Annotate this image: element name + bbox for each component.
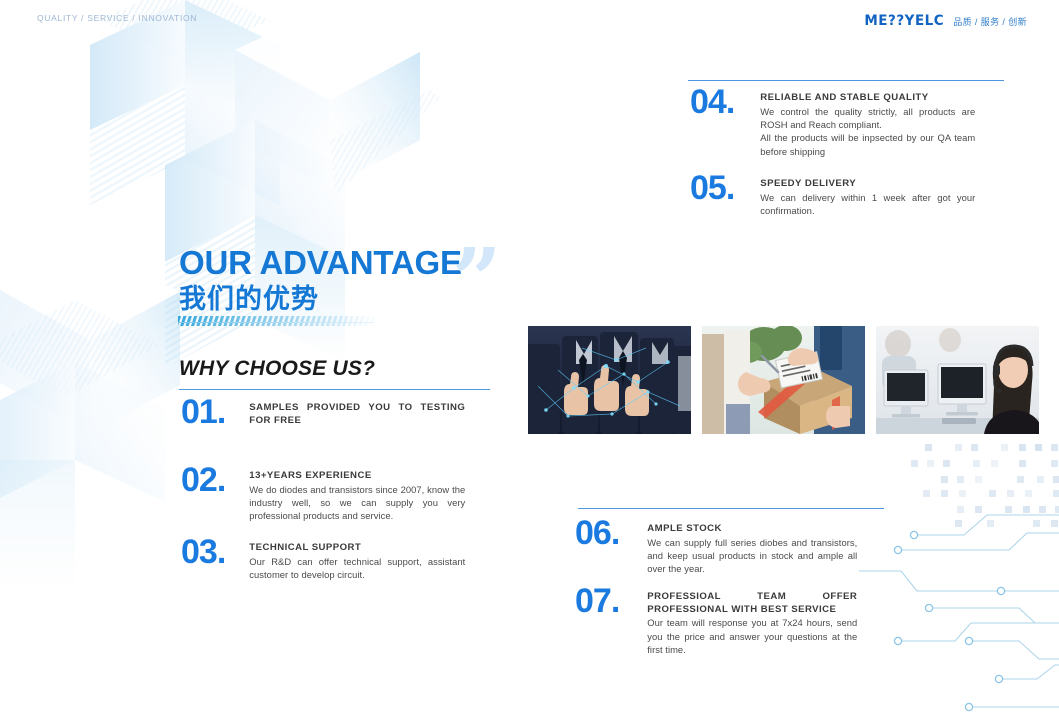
logo-subtitle: 品质 / 服务 / 创新 xyxy=(953,15,1027,28)
pixel-dot-grid-icon xyxy=(879,440,1059,550)
advantage-item-04: 04. RELIABLE AND STABLE QUALITY We contr… xyxy=(690,88,1010,158)
item-title: TECHNICAL SUPPORT xyxy=(249,542,465,555)
why-choose-us-heading: WHY CHOOSE US? xyxy=(179,357,375,381)
advantage-item-07: 07. PROFESSIOAL TEAM OFFER PROFESSIONAL … xyxy=(575,587,895,656)
item-number: 05. xyxy=(690,174,734,203)
item-description: We can supply full series diobes and tra… xyxy=(647,536,857,576)
call-center-support-photo xyxy=(876,326,1039,434)
advantage-poster: QUALITY / SERVICE / INNOVATION ME??YELC … xyxy=(0,0,1059,723)
advantage-item-01: 01. SAMPLES PROVIDED YOU TO TESTING FOR … xyxy=(181,398,481,427)
item-number: 03. xyxy=(181,538,225,567)
item-number: 07. xyxy=(575,587,619,616)
item-description: We can delivery within 1 week after got … xyxy=(760,191,975,218)
item-title: SAMPLES PROVIDED YOU TO TESTING FOR FREE xyxy=(249,402,465,427)
divider-right-bottom xyxy=(578,508,884,509)
item-number: 01. xyxy=(181,398,225,427)
business-team-thumbs-up-photo xyxy=(528,326,691,434)
package-delivery-photo xyxy=(702,326,865,434)
quote-mark-icon: ” xyxy=(452,238,497,324)
item-title: 13+YEARS EXPERIENCE xyxy=(249,470,465,483)
item-description: We do diodes and transistors since 2007,… xyxy=(249,483,465,523)
item-title: RELIABLE AND STABLE QUALITY xyxy=(760,92,975,105)
advantage-item-05: 05. SPEEDY DELIVERY We can delivery with… xyxy=(690,174,1010,217)
item-description: Our team will response you at 7x24 hours… xyxy=(647,616,857,656)
item-number: 06. xyxy=(575,519,619,548)
advantage-item-06: 06. AMPLE STOCK We can supply full serie… xyxy=(575,519,895,576)
tagline: QUALITY / SERVICE / INNOVATION xyxy=(37,13,197,23)
advantage-item-03: 03. TECHNICAL SUPPORT Our R&D can offer … xyxy=(181,538,481,581)
item-description: Our R&D can offer technical support, ass… xyxy=(249,555,465,582)
photo-strip xyxy=(528,326,1039,434)
divider-left-column xyxy=(179,389,490,390)
title-underline xyxy=(178,322,374,323)
divider-right-top xyxy=(688,80,1004,81)
item-title: SPEEDY DELIVERY xyxy=(760,178,975,191)
item-description: We control the quality strictly, all pro… xyxy=(760,105,975,158)
logo-wordmark: ME??YELC xyxy=(864,13,944,30)
item-number: 02. xyxy=(181,466,225,495)
advantage-item-02: 02. 13+YEARS EXPERIENCE We do diodes and… xyxy=(181,466,481,523)
item-title: AMPLE STOCK xyxy=(647,523,857,536)
stripe-accent-bar xyxy=(178,316,378,326)
brand-logo[interactable]: ME??YELC 品质 / 服务 / 创新 xyxy=(864,13,1027,29)
item-number: 04. xyxy=(690,88,734,117)
item-title: PROFESSIOAL TEAM OFFER PROFESSIONAL WITH… xyxy=(647,591,857,616)
